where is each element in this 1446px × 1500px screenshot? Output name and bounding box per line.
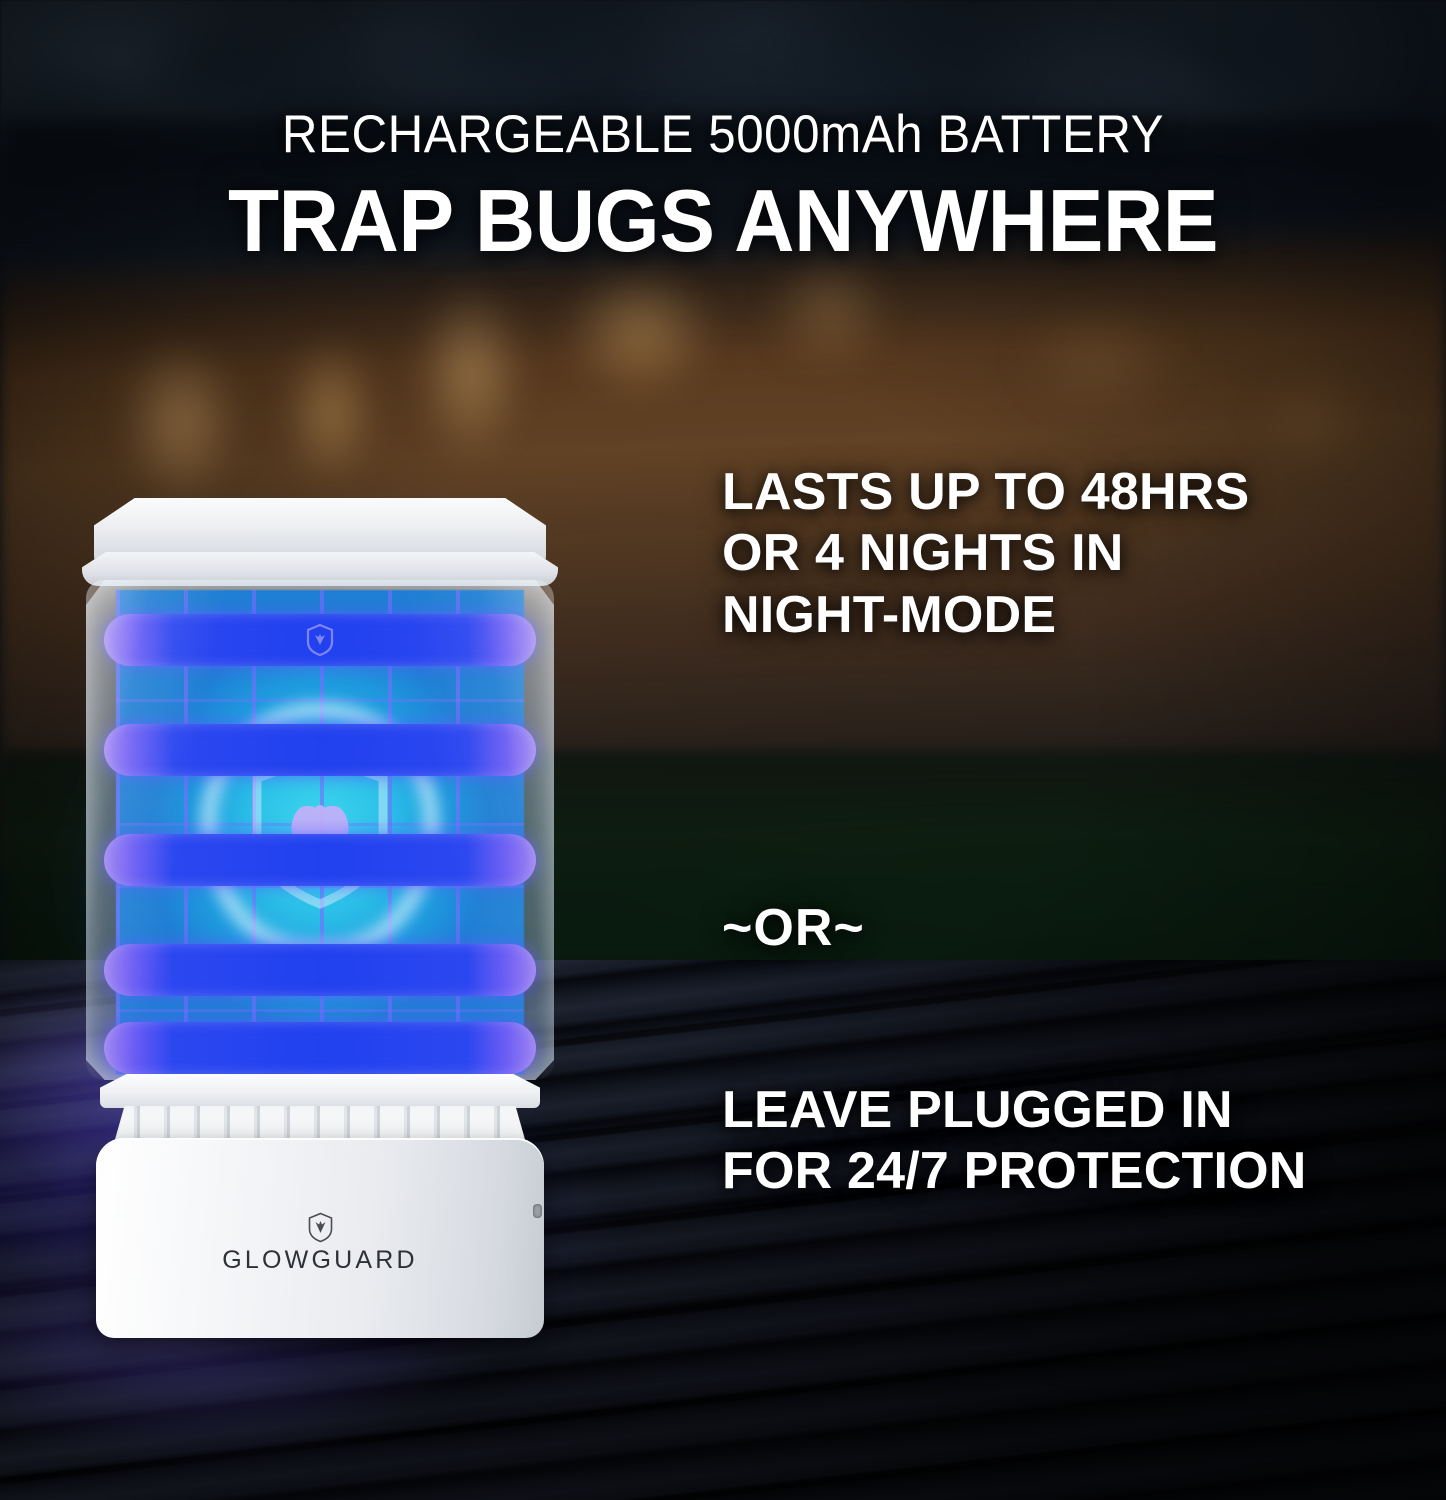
headline-block: RECHARGEABLE 5000mAh BATTERY TRAP BUGS A…	[0, 0, 1446, 265]
uv-lamp-bar	[104, 614, 536, 666]
benefit-text-plugged-in: LEAVE PLUGGED IN FOR 24/7 PROTECTION	[722, 1080, 1322, 1203]
brand-lockup: GLOWGUARD	[96, 1212, 544, 1275]
benefit-text-battery-life: LASTS UP TO 48HRS OR 4 NIGHTS IN NIGHT-M…	[722, 462, 1282, 646]
product-vent-collar	[100, 1074, 540, 1108]
uv-chamber	[86, 580, 554, 1080]
product-image-bug-zapper: GLOWGUARD	[78, 498, 570, 1338]
eyebrow-text: RECHARGEABLE 5000mAh BATTERY	[51, 104, 1396, 165]
or-divider-text: ~OR~	[722, 898, 865, 958]
product-marketing-image: RECHARGEABLE 5000mAh BATTERY TRAP BUGS A…	[0, 0, 1446, 1500]
uv-lamp-bar	[104, 1022, 536, 1074]
brand-name-text: GLOWGUARD	[222, 1246, 417, 1275]
uv-lamp-bar	[104, 944, 536, 996]
main-headline: TRAP BUGS ANYWHERE	[36, 177, 1410, 265]
uv-lamp-bar	[104, 724, 536, 776]
uv-lamp-bar	[104, 834, 536, 886]
shield-icon	[305, 623, 335, 657]
shield-moth-icon	[307, 1212, 334, 1243]
